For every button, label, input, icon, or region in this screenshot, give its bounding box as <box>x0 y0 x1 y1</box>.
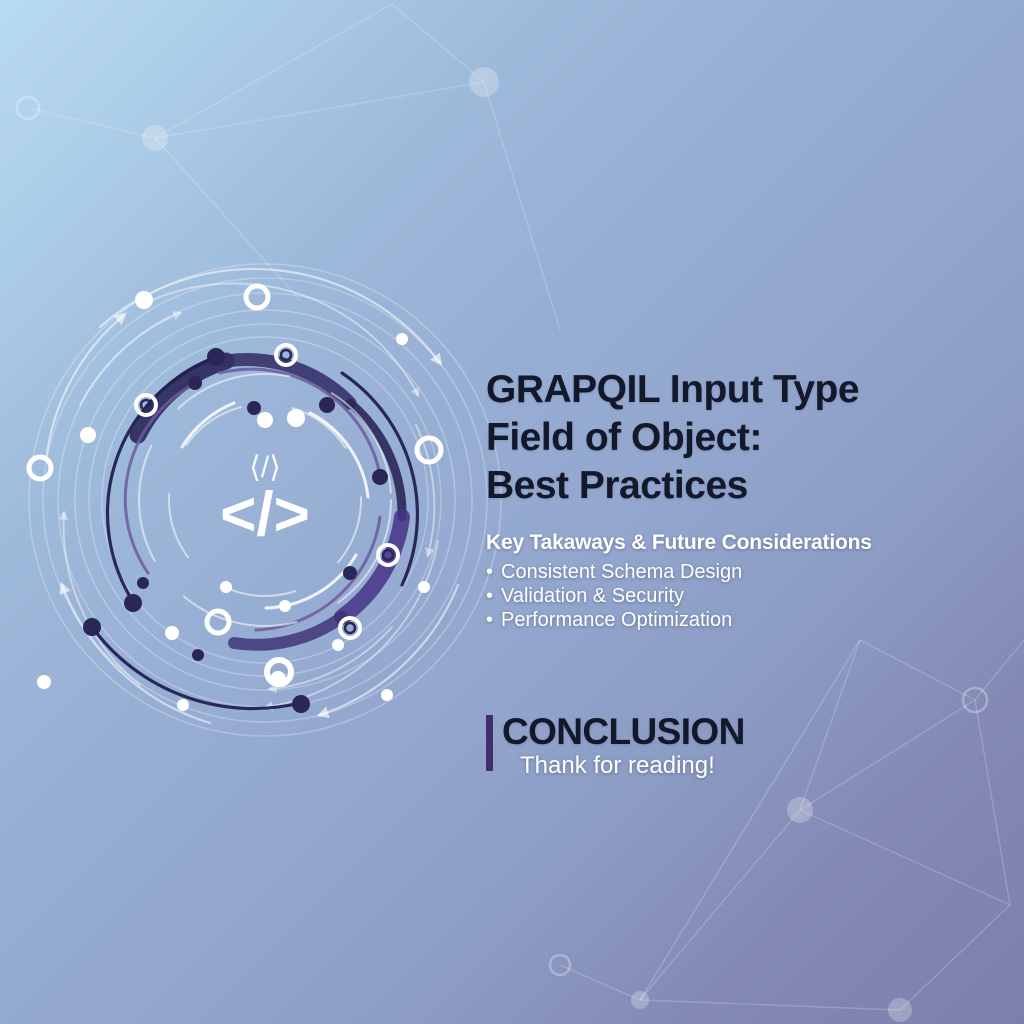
title-line-1: GRAPQIL Input Type <box>486 366 986 414</box>
slide-canvas: ⟨/⟩ </> GRAPQIL Input Type Field of Obje… <box>0 0 1024 1024</box>
code-brackets-icon: </> <box>220 480 310 549</box>
list-item: Performance Optimization <box>486 609 986 632</box>
list-item: Validation & Security <box>486 585 986 608</box>
page-title: GRAPQIL Input Type Field of Object: Best… <box>486 366 986 510</box>
key-takeaways-list: Consistent Schema Design Validation & Se… <box>486 561 986 632</box>
title-line-2: Field of Object: <box>486 414 986 462</box>
accent-bar <box>486 715 493 771</box>
code-orbit-graphic: ⟨/⟩ </> <box>20 255 510 745</box>
title-line-3: Best Practices <box>486 462 986 510</box>
conclusion-message: Thank for reading! <box>502 752 986 779</box>
conclusion-heading: CONCLUSION <box>502 712 986 752</box>
list-item: Consistent Schema Design <box>486 561 986 584</box>
subtitle: Key Takaways & Future Considerations <box>486 531 986 555</box>
conclusion-block: CONCLUSION Thank for reading! <box>486 712 986 779</box>
text-column: GRAPQIL Input Type Field of Object: Best… <box>486 366 986 779</box>
